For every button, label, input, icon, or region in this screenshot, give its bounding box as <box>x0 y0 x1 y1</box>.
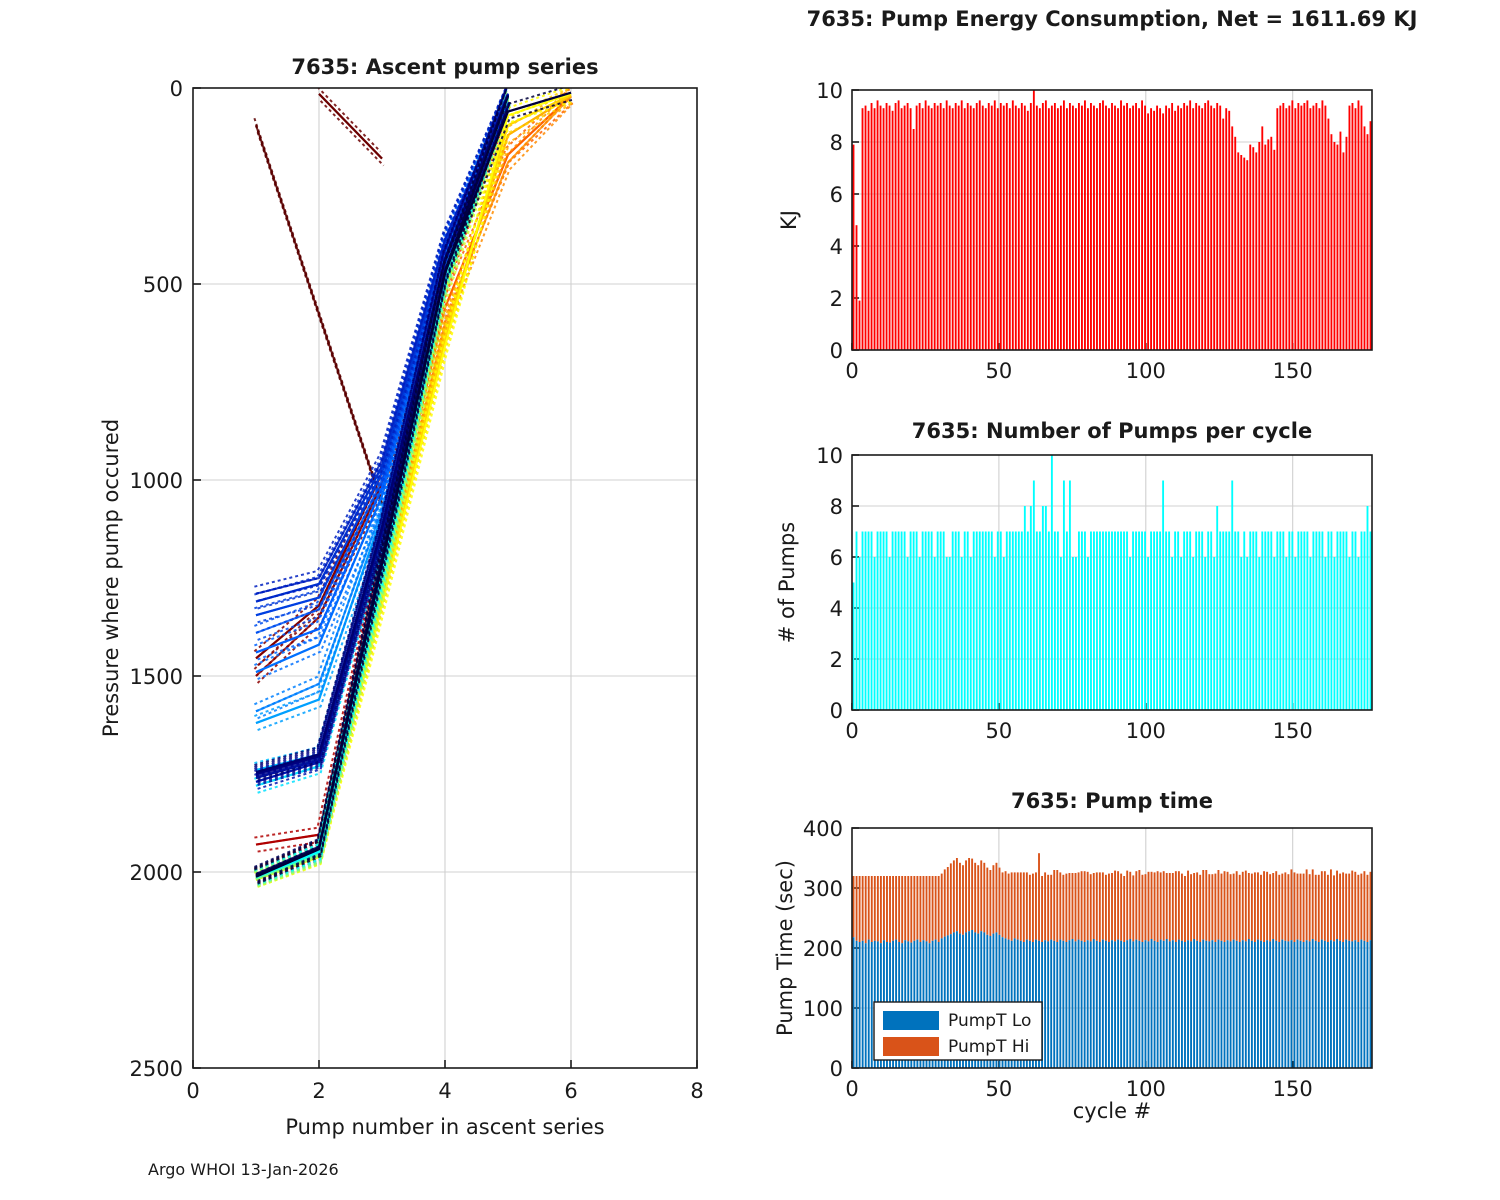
bar <box>1219 532 1221 711</box>
bar-segment-hi <box>1084 871 1086 942</box>
y-tick-label: 2500 <box>130 1057 183 1081</box>
y-tick-label: 1500 <box>130 665 183 689</box>
bar <box>1117 108 1119 350</box>
bar-segment-lo <box>1217 940 1219 1068</box>
bar <box>1216 103 1218 350</box>
bar <box>1078 103 1080 350</box>
bar-segment-hi <box>1105 875 1107 941</box>
bar <box>1264 532 1266 711</box>
bar <box>1174 111 1176 350</box>
y-tick-label: 200 <box>803 937 843 961</box>
legend-label: PumpT Lo <box>948 1011 1031 1031</box>
bar-segment-hi <box>1284 872 1286 940</box>
bar <box>868 532 870 711</box>
bar-segment-hi <box>1205 870 1207 941</box>
bar-segment-hi <box>883 876 885 940</box>
bar <box>913 532 915 711</box>
bar-segment-hi <box>1099 872 1101 942</box>
bar-segment-lo <box>1059 940 1061 1068</box>
x-tick-label: 50 <box>986 359 1013 383</box>
bar-segment-hi <box>971 859 973 930</box>
bar-segment-hi <box>1023 872 1025 942</box>
bar <box>1297 532 1299 711</box>
bar <box>1288 106 1290 350</box>
bar <box>1246 557 1248 710</box>
bar <box>1243 532 1245 711</box>
bar <box>991 106 993 350</box>
bar-segment-lo <box>1227 940 1229 1068</box>
bar-segment-hi <box>935 876 937 940</box>
y-tick-label: 2000 <box>130 861 183 885</box>
bar-segment-hi <box>980 860 982 931</box>
bar-segment-lo <box>1187 940 1189 1068</box>
bar <box>1340 532 1342 711</box>
bar-segment-hi <box>1172 873 1174 940</box>
bar-segment-hi <box>1047 875 1049 942</box>
x-tick-label: 100 <box>1126 1077 1166 1101</box>
bar <box>964 108 966 350</box>
bar <box>1282 532 1284 711</box>
bar-segment-hi <box>1370 872 1372 940</box>
bar-segment-hi <box>1294 872 1296 942</box>
bar <box>1201 532 1203 711</box>
bar <box>1288 532 1290 711</box>
bar <box>1162 113 1164 350</box>
bar-segment-lo <box>1096 941 1098 1068</box>
bar <box>1183 103 1185 350</box>
x-tick-label: 50 <box>986 1077 1013 1101</box>
y-tick-label: 400 <box>803 817 843 841</box>
y-tick-label: 2 <box>830 287 843 311</box>
bar <box>1030 103 1032 350</box>
bar <box>1054 103 1056 350</box>
bar <box>1099 103 1101 350</box>
bar <box>949 557 951 710</box>
bar <box>1234 532 1236 711</box>
bar-segment-hi <box>996 863 998 933</box>
bar-segment-hi <box>950 863 952 934</box>
bar <box>1009 532 1011 711</box>
bar <box>1162 481 1164 711</box>
bar <box>1291 532 1293 711</box>
bar <box>1153 532 1155 711</box>
x-tick-label: 150 <box>1273 1077 1313 1101</box>
bar <box>1192 108 1194 350</box>
bar-segment-hi <box>986 868 988 935</box>
bar-segment-lo <box>1287 941 1289 1068</box>
y-axis-label: Pump Time (sec) <box>773 860 797 1036</box>
bar-segment-hi <box>1135 871 1137 939</box>
bar-segment-hi <box>1342 872 1344 942</box>
bar <box>931 108 933 350</box>
bar <box>979 100 981 350</box>
bar <box>1198 106 1200 350</box>
bar <box>1111 103 1113 350</box>
bar <box>1276 532 1278 711</box>
x-tick-label: 8 <box>690 1079 703 1103</box>
bar <box>1126 532 1128 711</box>
bar-segment-hi <box>1169 873 1171 941</box>
y-tick-label: 300 <box>803 877 843 901</box>
bar-segment-hi <box>1175 871 1177 942</box>
bar-segment-hi <box>959 863 961 934</box>
bar <box>1099 532 1101 711</box>
bar-segment-hi <box>1187 871 1189 941</box>
bar-segment-lo <box>1251 941 1253 1068</box>
bar-segment-hi <box>1233 874 1235 940</box>
bar-segment-hi <box>1005 871 1007 938</box>
bar-segment-lo <box>1129 939 1131 1068</box>
bar-segment-hi <box>1184 876 1186 942</box>
bar <box>1273 150 1275 350</box>
bar <box>1003 557 1005 710</box>
bar <box>1207 532 1209 711</box>
bar-segment-lo <box>1184 942 1186 1068</box>
bar <box>1129 108 1131 350</box>
bar-segment-hi <box>965 860 967 932</box>
bar-segment-hi <box>1075 873 1077 941</box>
bar <box>958 106 960 350</box>
bar-segment-hi <box>1117 871 1119 939</box>
bar-segment-hi <box>1126 871 1128 941</box>
bar <box>1361 532 1363 711</box>
bar <box>895 532 897 711</box>
bar-segment-lo <box>1345 940 1347 1068</box>
bar <box>1015 106 1017 350</box>
bar <box>970 106 972 350</box>
bar-segment-lo <box>1294 942 1296 1068</box>
bar <box>1090 103 1092 350</box>
bar <box>1108 108 1110 350</box>
bar <box>1015 532 1017 711</box>
bar-segment-lo <box>1284 941 1286 1068</box>
y-axis-label: KJ <box>777 210 801 230</box>
bar <box>1207 100 1209 350</box>
x-tick-label: 4 <box>438 1079 451 1103</box>
bar <box>1063 481 1065 711</box>
bar-segment-lo <box>1336 939 1338 1068</box>
bar-segment-hi <box>999 868 1001 935</box>
bar <box>1204 103 1206 350</box>
bar <box>1006 103 1008 350</box>
bar <box>937 106 939 350</box>
bar <box>1318 532 1320 711</box>
bar-segment-lo <box>1169 941 1171 1068</box>
bar-segment-hi <box>1166 873 1168 939</box>
bar <box>1213 557 1215 710</box>
bar-segment-hi <box>895 876 897 940</box>
bar <box>940 103 942 350</box>
bar <box>1042 506 1044 710</box>
bar-segment-hi <box>941 874 943 939</box>
bar-segment-lo <box>1062 941 1064 1068</box>
bar <box>874 108 876 350</box>
bar-segment-hi <box>1306 869 1308 940</box>
bar <box>1123 106 1125 350</box>
bar <box>859 301 861 350</box>
bar <box>1084 100 1086 350</box>
x-tick-label: 50 <box>986 719 1013 743</box>
bar <box>1312 532 1314 711</box>
bar <box>1120 532 1122 711</box>
bar-segment-hi <box>1041 876 1043 942</box>
bar-segment-hi <box>1050 875 1052 940</box>
bar <box>1228 111 1230 350</box>
bar-segment-hi <box>904 876 906 940</box>
bar <box>1267 139 1269 350</box>
bar-segment-lo <box>1269 941 1271 1068</box>
bar-segment-lo <box>1351 941 1353 1068</box>
bar <box>1255 532 1257 711</box>
bar-segment-hi <box>1360 874 1362 940</box>
bar-segment-hi <box>956 858 958 931</box>
bar-segment-lo <box>1221 941 1223 1068</box>
bar <box>1045 100 1047 350</box>
bar <box>1048 532 1050 711</box>
y-tick-label: 0 <box>830 339 843 363</box>
bar-segment-lo <box>1354 940 1356 1068</box>
bar-segment-hi <box>1181 874 1183 941</box>
bar <box>1108 532 1110 711</box>
bar <box>958 532 960 711</box>
bar <box>1138 532 1140 711</box>
bar <box>901 532 903 711</box>
bar-segment-hi <box>1081 871 1083 941</box>
bar <box>1120 100 1122 350</box>
bar-segment-hi <box>1044 872 1046 940</box>
bar <box>970 557 972 710</box>
bar <box>1361 106 1363 350</box>
bar <box>1114 532 1116 711</box>
bar-segment-hi <box>983 863 985 933</box>
bar <box>1279 106 1281 350</box>
bar <box>1204 557 1206 710</box>
bar-segment-hi <box>1141 875 1143 942</box>
bar-segment-lo <box>1141 942 1143 1068</box>
bar <box>907 557 909 710</box>
bar <box>1012 100 1014 350</box>
bar <box>898 532 900 711</box>
bar <box>862 532 864 711</box>
bar <box>1261 126 1263 350</box>
bar-segment-lo <box>1196 941 1198 1068</box>
bar-segment-hi <box>907 876 909 941</box>
bar-segment-hi <box>923 876 925 940</box>
bar <box>1009 108 1011 350</box>
bar-segment-lo <box>1348 941 1350 1068</box>
x-tick-label: 0 <box>845 719 858 743</box>
bar-segment-lo <box>1135 940 1137 1068</box>
bar <box>862 108 864 350</box>
bar-segment-hi <box>1324 871 1326 941</box>
bar <box>853 583 855 711</box>
bar-segment-lo <box>1248 939 1250 1068</box>
bar-segment-hi <box>1093 873 1095 939</box>
bar <box>1150 108 1152 350</box>
bar <box>1231 481 1233 711</box>
bar-segment-lo <box>1138 941 1140 1068</box>
bar <box>1294 557 1296 710</box>
y-axis-label: Pressure where pump occured <box>99 419 123 737</box>
bar <box>892 111 894 350</box>
bar-segment-hi <box>974 863 976 933</box>
x-tick-label: 100 <box>1126 719 1166 743</box>
bar-segment-hi <box>859 876 861 942</box>
bar <box>1276 108 1278 350</box>
bar <box>877 100 879 350</box>
bar <box>1147 557 1149 710</box>
y-tick-label: 4 <box>830 235 843 259</box>
bar <box>1051 455 1053 710</box>
y-tick-label: 10 <box>816 444 843 468</box>
bar <box>904 106 906 350</box>
bar <box>1364 532 1366 711</box>
bar <box>853 145 855 350</box>
bar-segment-hi <box>1148 872 1150 942</box>
bar-segment-lo <box>1126 940 1128 1068</box>
bar <box>1243 158 1245 350</box>
bar <box>1168 108 1170 350</box>
bar <box>961 100 963 350</box>
bar <box>1324 557 1326 710</box>
bar-segment-lo <box>1303 942 1305 1068</box>
bar <box>865 106 867 350</box>
bar <box>1165 106 1167 350</box>
bar <box>1072 106 1074 350</box>
bar-segment-hi <box>886 876 888 942</box>
bar-segment-lo <box>1132 941 1134 1068</box>
bar-segment-hi <box>1029 875 1031 941</box>
bar <box>1075 557 1077 710</box>
bar <box>994 100 996 350</box>
bar <box>1141 100 1143 350</box>
bar <box>1075 108 1077 350</box>
bar-segment-hi <box>913 876 915 941</box>
bar-segment-lo <box>1254 942 1256 1068</box>
bar <box>1045 506 1047 710</box>
bar <box>976 103 978 350</box>
bar-segment-hi <box>1309 874 1311 941</box>
bar <box>1000 532 1002 711</box>
bar <box>856 225 858 350</box>
bar-segment-hi <box>1363 871 1365 941</box>
bar <box>1105 532 1107 711</box>
bar <box>925 532 927 711</box>
number-of-pumps-panel: 7635: Number of Pumps per cycle024681005… <box>760 400 1500 760</box>
bar <box>1177 106 1179 350</box>
bar <box>1279 532 1281 711</box>
bar <box>1337 145 1339 350</box>
bar-segment-lo <box>1257 940 1259 1068</box>
bar-segment-lo <box>1068 940 1070 1068</box>
bar <box>1249 145 1251 350</box>
bar <box>1198 532 1200 711</box>
bar <box>1033 90 1035 350</box>
bar-segment-hi <box>1002 872 1004 937</box>
legend-swatch <box>883 1037 939 1056</box>
bar <box>889 557 891 710</box>
bar <box>1078 532 1080 711</box>
bar <box>1195 532 1197 711</box>
bar <box>1346 532 1348 711</box>
bar <box>1165 532 1167 711</box>
bar <box>1337 532 1339 711</box>
bar <box>1240 557 1242 710</box>
bar-segment-lo <box>1175 942 1177 1068</box>
bar-segment-hi <box>874 876 876 941</box>
bar-segment-hi <box>1190 874 1192 941</box>
bar-segment-lo <box>1318 942 1320 1068</box>
bar <box>1267 532 1269 711</box>
bar-segment-hi <box>1123 876 1125 942</box>
bar-segment-hi <box>1367 875 1369 942</box>
bar-segment-hi <box>1221 874 1223 941</box>
bar <box>1183 532 1185 711</box>
bar-segment-hi <box>1254 872 1256 942</box>
bar-segment-lo <box>1172 940 1174 1068</box>
bar-segment-hi <box>1035 872 1037 939</box>
bar-segment-hi <box>1330 869 1332 940</box>
bar <box>1346 137 1348 350</box>
bar <box>1054 532 1056 711</box>
bar-segment-lo <box>1239 942 1241 1068</box>
bar-segment-hi <box>916 876 918 940</box>
bar <box>961 557 963 710</box>
bar-segment-hi <box>1102 872 1104 939</box>
pump-energy-consumption-chart: 7635: Pump Energy Consumption, Net = 161… <box>760 0 1500 400</box>
bar <box>1060 557 1062 710</box>
bar-segment-hi <box>989 870 991 936</box>
chart-title: 7635: Ascent pump series <box>291 55 598 79</box>
bar-segment-hi <box>1354 872 1356 940</box>
bar-segment-hi <box>932 876 934 941</box>
bar <box>1069 481 1071 711</box>
bar <box>892 532 894 711</box>
x-tick-label: 0 <box>186 1079 199 1103</box>
bar <box>1066 108 1068 350</box>
bar-segment-lo <box>1266 940 1268 1068</box>
bar-segment-hi <box>1151 872 1153 939</box>
bar <box>1201 108 1203 350</box>
legend[interactable]: PumpT LoPumpT Hi <box>874 1002 1042 1060</box>
bar <box>982 106 984 350</box>
bar <box>952 108 954 350</box>
bar <box>1141 532 1143 711</box>
bar-segment-lo <box>1081 941 1083 1068</box>
bar <box>871 103 873 350</box>
bar-segment-lo <box>856 941 858 1068</box>
bar <box>1210 106 1212 350</box>
bar <box>1285 108 1287 350</box>
bar-segment-lo <box>859 942 861 1068</box>
bar-segment-hi <box>1214 874 1216 942</box>
bar-segment-hi <box>892 876 894 941</box>
bar-segment-lo <box>1367 942 1369 1068</box>
bar <box>1156 532 1158 711</box>
bar-segment-lo <box>1357 942 1359 1068</box>
bar <box>1324 106 1326 350</box>
bar <box>1186 106 1188 350</box>
bar-segment-lo <box>1205 941 1207 1068</box>
bar <box>1343 532 1345 711</box>
bar-segment-lo <box>1084 942 1086 1068</box>
bar <box>1102 532 1104 711</box>
x-tick-label: 150 <box>1273 719 1313 743</box>
bar <box>886 103 888 350</box>
number-of-pumps-chart: 7635: Number of Pumps per cycle024681005… <box>760 400 1500 760</box>
bar-segment-hi <box>1065 874 1067 942</box>
bar <box>886 532 888 711</box>
